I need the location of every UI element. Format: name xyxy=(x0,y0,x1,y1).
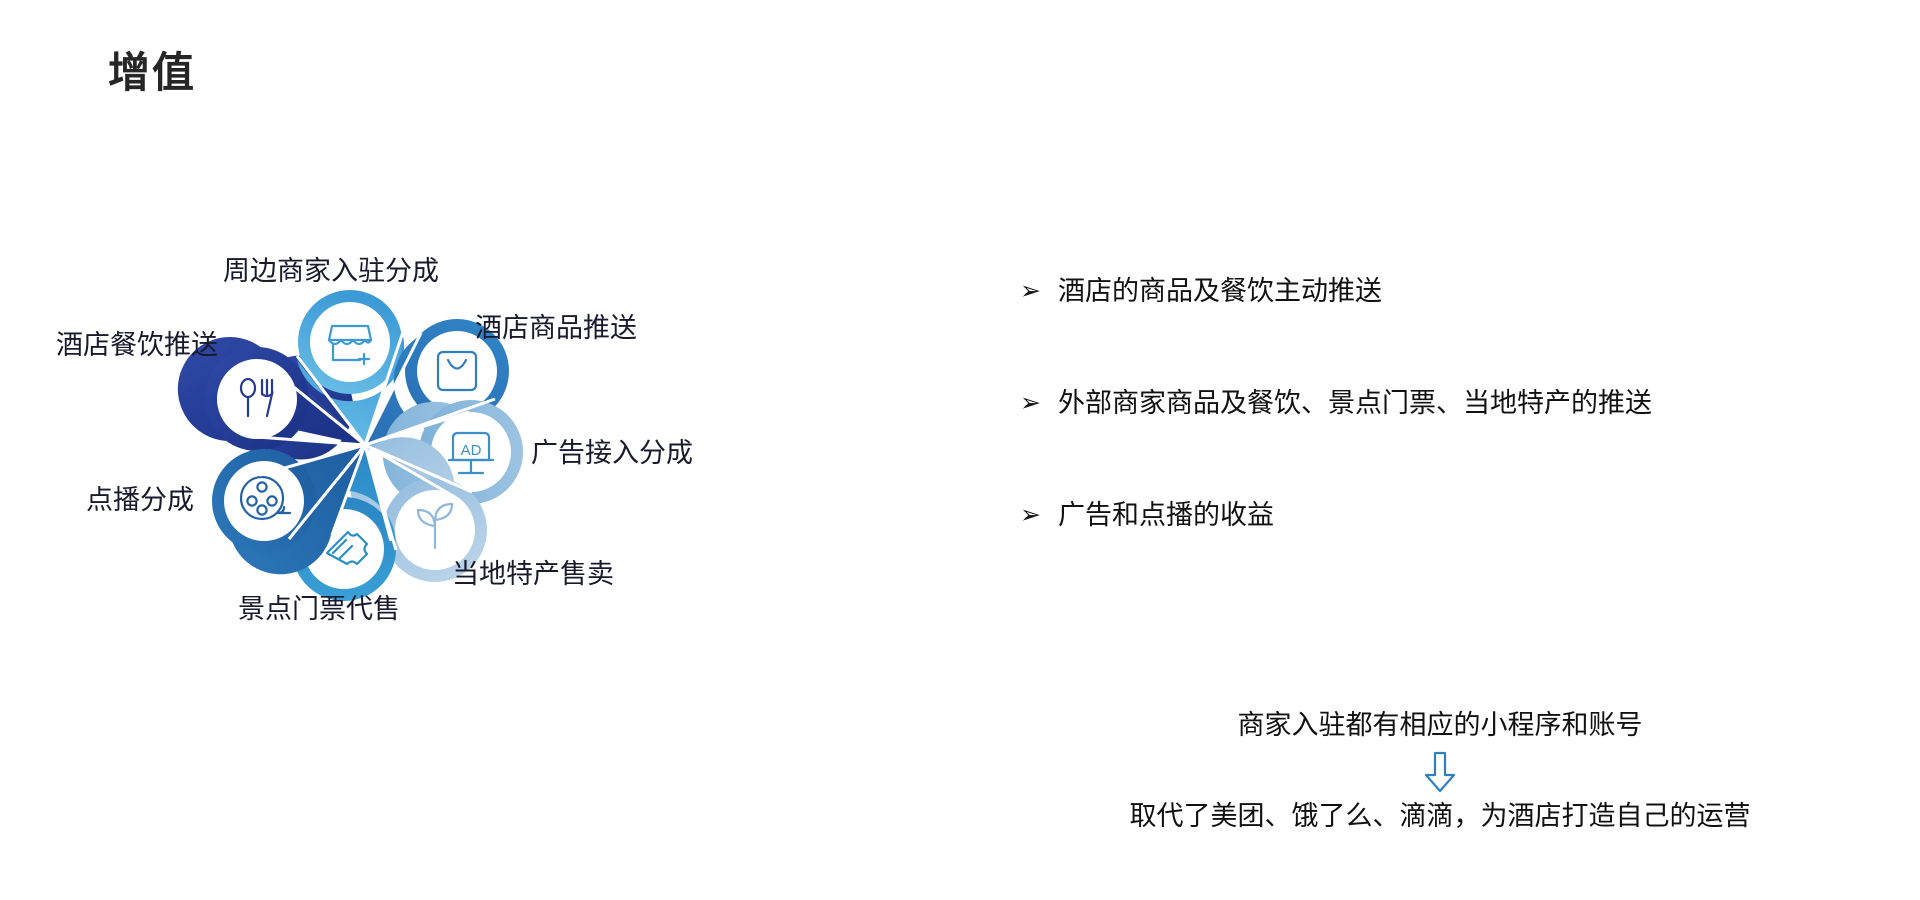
petal-label-local-specialty: 当地特产售卖 xyxy=(452,561,614,588)
conclusion-bottom-text: 取代了美团、饿了么、滴滴，为酒店打造自己的运营 xyxy=(1000,803,1880,830)
bullet-text: 外部商家商品及餐饮、景点门票、当地特产的推送 xyxy=(1058,387,1652,421)
arrow-bullet-icon: ➢ xyxy=(1020,275,1058,306)
conclusion-block: 商家入驻都有相应的小程序和账号 取代了美团、饿了么、滴滴，为酒店打造自己的运营 xyxy=(1000,712,1880,830)
bullet-text: 酒店的商品及餐饮主动推送 xyxy=(1058,275,1382,309)
petal-label-nearby-merchant: 周边商家入驻分成 xyxy=(223,258,439,285)
svg-text:AD: AD xyxy=(461,442,482,459)
petal-label-attraction-ticket: 景点门票代售 xyxy=(238,596,400,623)
down-arrow-outline-icon xyxy=(1000,751,1880,793)
arrow-bullet-icon: ➢ xyxy=(1020,499,1058,530)
petal-label-hotel-goods-push: 酒店商品推送 xyxy=(475,315,637,342)
petal-label-vod-revenue-share: 点播分成 xyxy=(86,487,194,514)
page-title: 增值 xyxy=(108,52,196,94)
list-item: ➢ 酒店的商品及餐饮主动推送 xyxy=(1020,275,1850,309)
conclusion-top-text: 商家入驻都有相应的小程序和账号 xyxy=(1000,712,1880,739)
bullet-text: 广告和点播的收益 xyxy=(1058,499,1274,533)
slide-root: 增值 xyxy=(0,0,1920,900)
petal-label-ad-revenue-share: 广告接入分成 xyxy=(531,440,693,467)
benefit-bullet-list: ➢ 酒店的商品及餐饮主动推送 ➢ 外部商家商品及餐饮、景点门票、当地特产的推送 … xyxy=(1020,275,1850,610)
petal-label-hotel-dining-push: 酒店餐饮推送 xyxy=(56,332,218,359)
list-item: ➢ 广告和点播的收益 xyxy=(1020,499,1850,533)
arrow-bullet-icon: ➢ xyxy=(1020,387,1058,418)
list-item: ➢ 外部商家商品及餐饮、景点门票、当地特产的推送 xyxy=(1020,387,1850,421)
petal-wheel-diagram: AD xyxy=(50,270,810,790)
